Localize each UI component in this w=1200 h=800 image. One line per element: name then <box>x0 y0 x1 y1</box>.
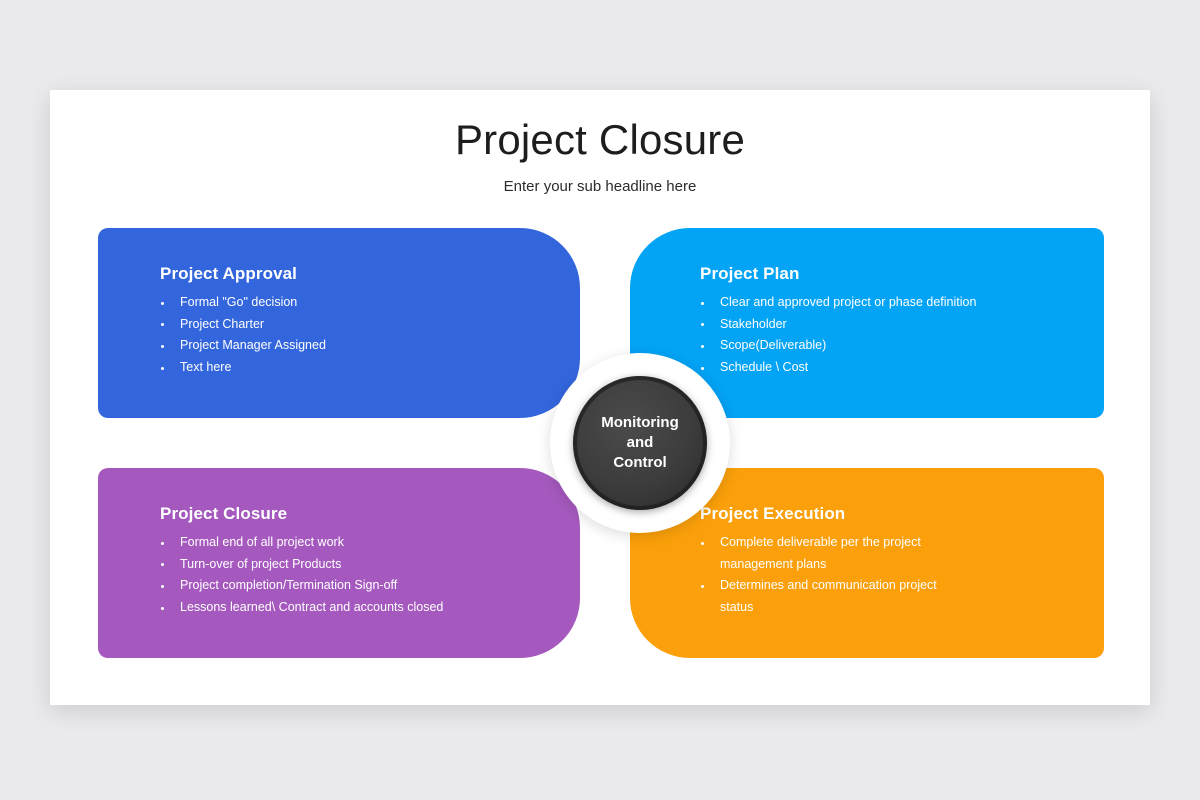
quadrant-card-project-closure[interactable]: Project Closure Formal end of all projec… <box>98 468 580 658</box>
list-item: Determines and communication project sta… <box>700 575 948 618</box>
quadrant-title: Project Approval <box>160 264 580 284</box>
list-item: Lessons learned\ Contract and accounts c… <box>160 597 580 619</box>
list-item: Formal end of all project work <box>160 532 580 554</box>
list-item: Project completion/Termination Sign-off <box>160 575 580 597</box>
list-item: Clear and approved project or phase defi… <box>700 292 1104 314</box>
list-item: Formal "Go" decision <box>160 292 580 314</box>
list-item: Scope(Deliverable) <box>700 335 1104 357</box>
center-hub[interactable]: Monitoring and Control <box>573 376 707 510</box>
page-subtitle: Enter your sub headline here <box>50 164 1150 195</box>
list-item: Stakeholder <box>700 314 1104 336</box>
list-item: Project Manager Assigned <box>160 335 580 357</box>
quadrant-bullet-list: Complete deliverable per the project man… <box>700 532 1104 619</box>
quadrant-title: Project Execution <box>700 504 1104 524</box>
quadrant-bullet-list: Formal "Go" decision Project Charter Pro… <box>160 292 580 379</box>
list-item: Schedule \ Cost <box>700 357 1104 379</box>
slide-canvas: Project Closure Enter your sub headline … <box>50 90 1150 705</box>
quadrant-card-project-approval[interactable]: Project Approval Formal "Go" decision Pr… <box>98 228 580 418</box>
page-title: Project Closure <box>50 90 1150 164</box>
center-hub-label: Monitoring and Control <box>601 413 678 473</box>
quadrant-bullet-list: Clear and approved project or phase defi… <box>700 292 1104 379</box>
list-item: Text here <box>160 357 580 379</box>
list-item: Turn-over of project Products <box>160 554 580 576</box>
list-item: Project Charter <box>160 314 580 336</box>
quadrant-bullet-list: Formal end of all project work Turn-over… <box>160 532 580 619</box>
quadrant-title: Project Closure <box>160 504 580 524</box>
list-item: Complete deliverable per the project man… <box>700 532 938 575</box>
slide-header: Project Closure Enter your sub headline … <box>50 90 1150 195</box>
quadrant-title: Project Plan <box>700 264 1104 284</box>
